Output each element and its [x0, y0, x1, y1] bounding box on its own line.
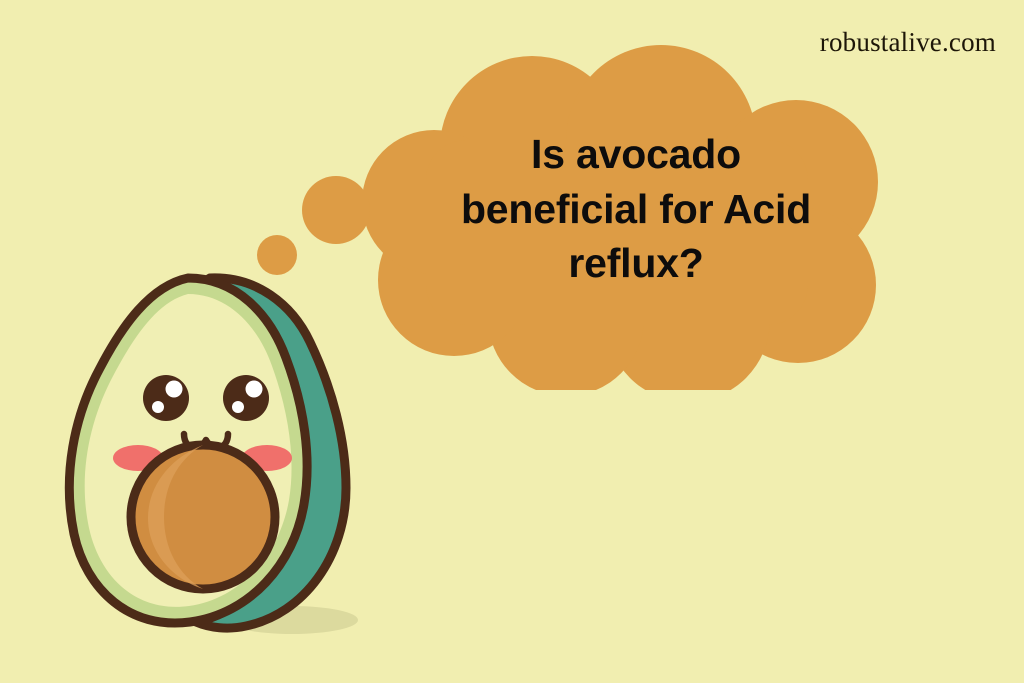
thought-bubble-text: Is avocado beneficial for Acid reflux?	[402, 127, 870, 291]
thought-bubble: Is avocado beneficial for Acid reflux?	[236, 30, 936, 390]
left-eye-highlight-small	[152, 401, 164, 413]
avocado-left-eye	[143, 375, 189, 421]
image-canvas: Is avocado beneficial for Acid reflux? r…	[0, 0, 1024, 683]
right-eye-highlight-small	[232, 401, 244, 413]
medium-thought-dot	[302, 176, 370, 244]
left-eye-highlight-large	[166, 381, 183, 398]
small-thought-dot	[257, 235, 297, 275]
left-eye-iris	[143, 375, 189, 421]
site-watermark: robustalive.com	[820, 29, 996, 56]
